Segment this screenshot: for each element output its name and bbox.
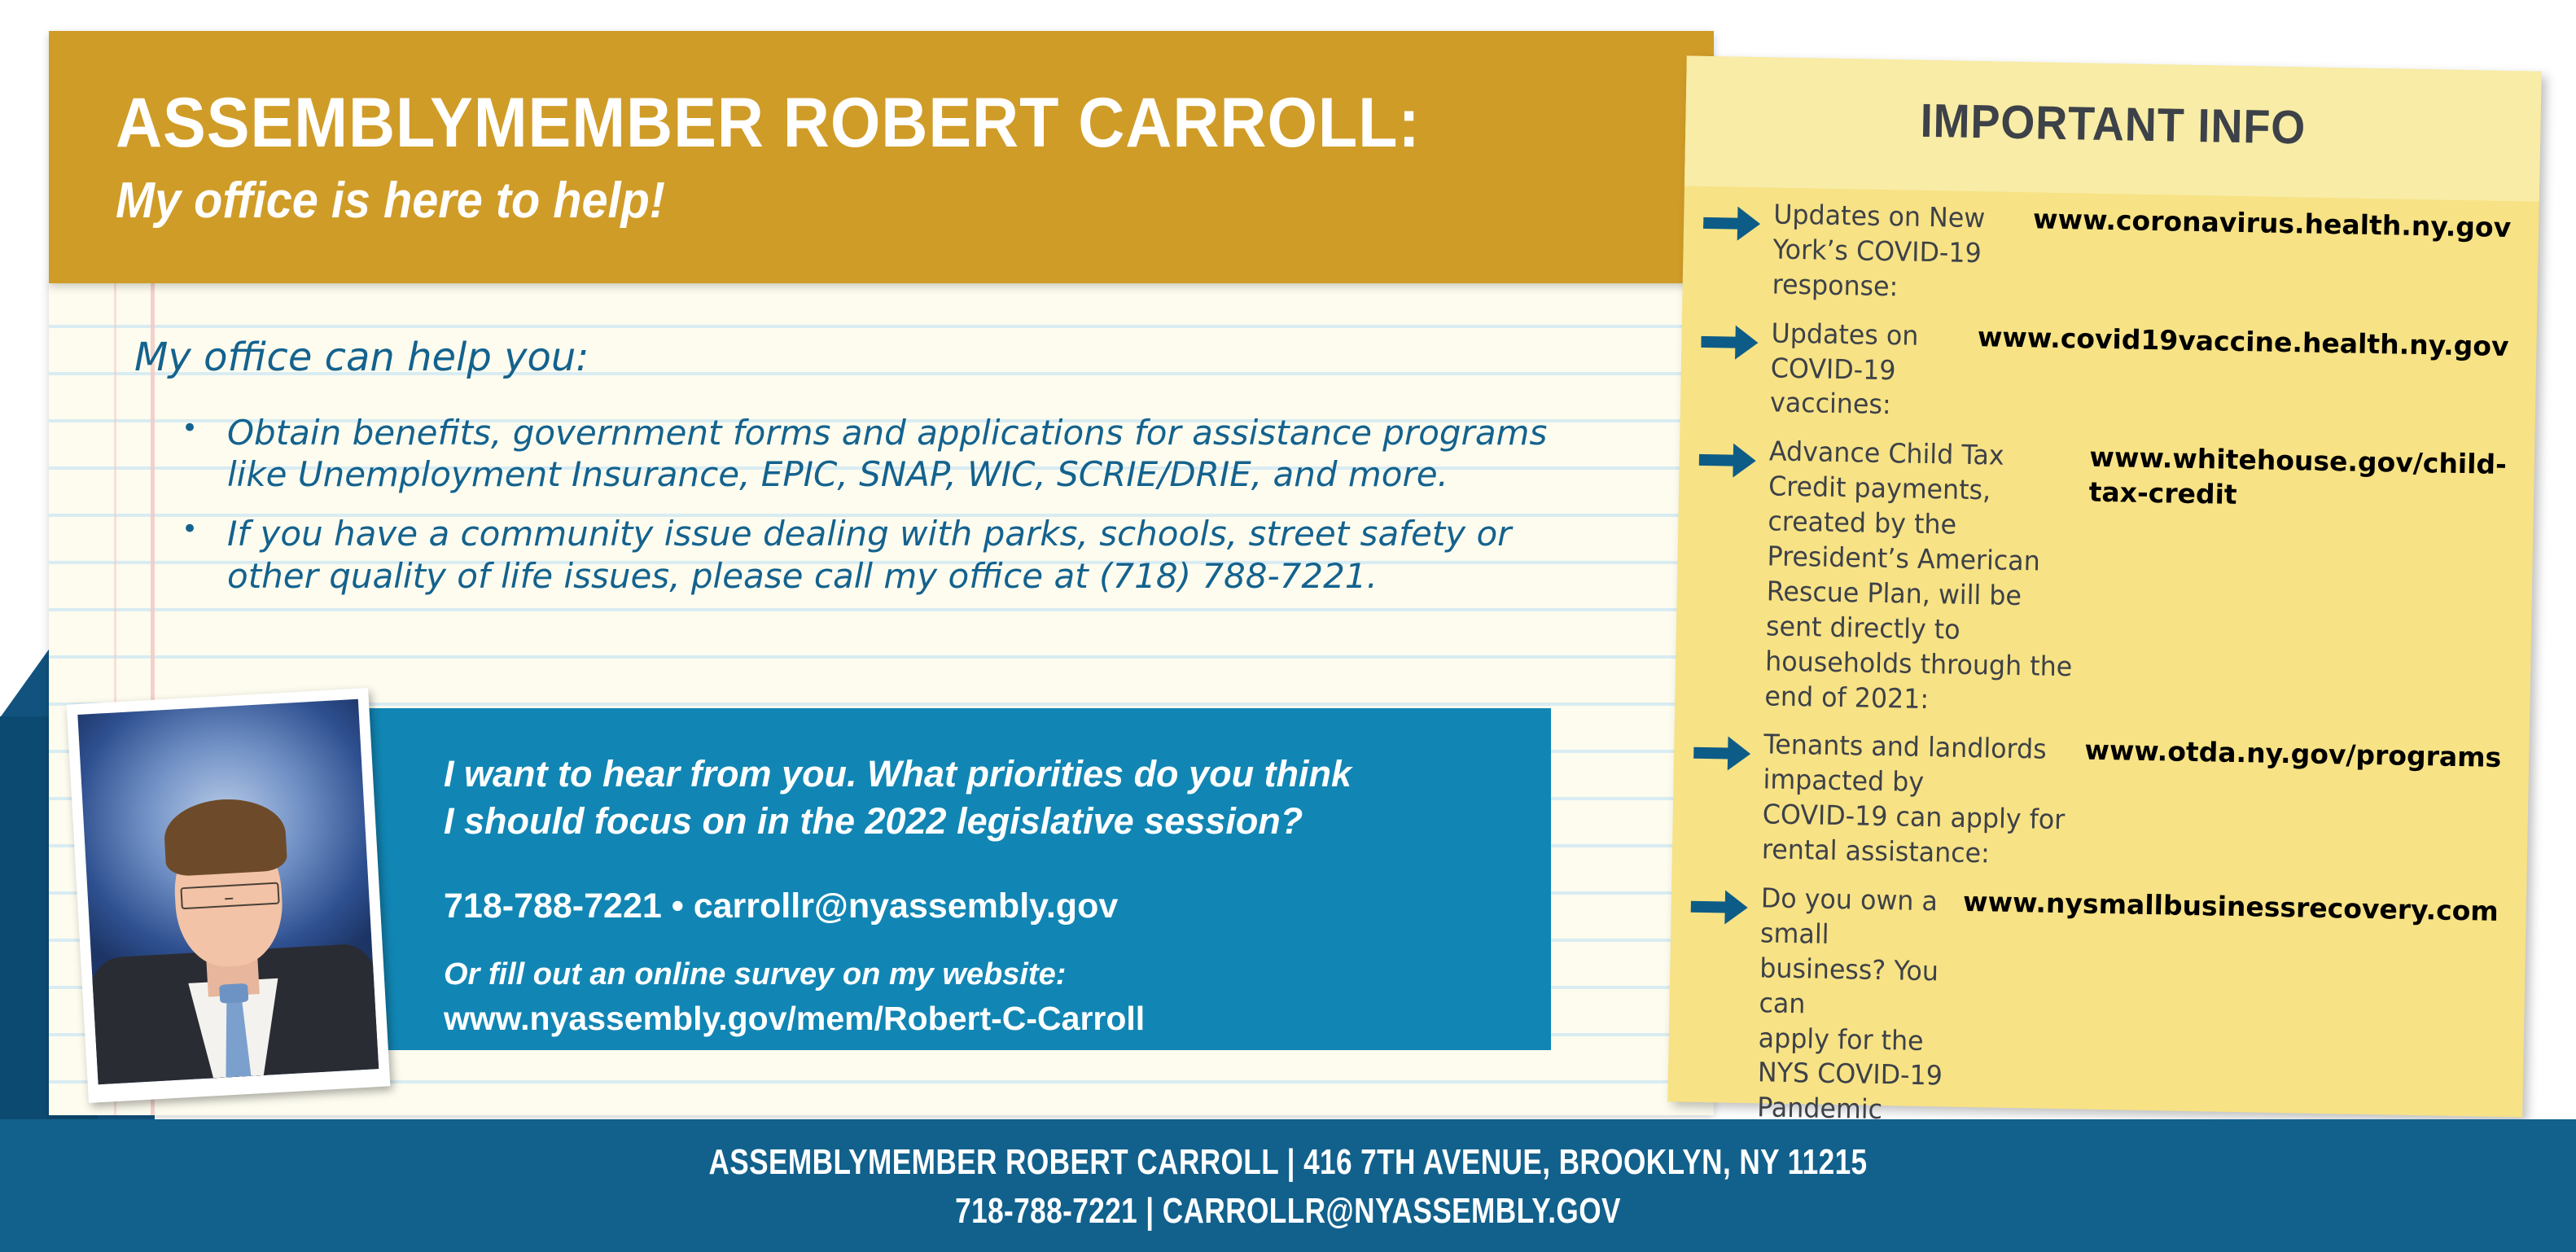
website-link[interactable]: www.nyassembly.gov/mem/Robert-C-Carroll xyxy=(444,1002,1145,1035)
footer-contact: 718-788-7221 | CARROLLR@NYASSEMBLY.GOV xyxy=(257,1191,2318,1232)
arrow-right-icon xyxy=(1693,726,1764,774)
important-info-list: Updates on New York’s COVID-19 response:… xyxy=(1664,195,2539,1252)
hair-shape xyxy=(163,796,287,877)
page-title: ASSEMBLYMEMBER ROBERT CARROLL: xyxy=(116,88,1421,158)
list-item-url[interactable]: www.covid19vaccine.health.ny.gov xyxy=(1978,320,2509,365)
list-item-text: Advance Child Tax Credit payments, creat… xyxy=(1764,435,2077,720)
footer-address: ASSEMBLYMEMBER ROBERT CARROLL | 416 7TH … xyxy=(257,1142,2318,1183)
list-item: Updates on New York’s COVID-19 response:… xyxy=(1682,195,2539,316)
contact-box-heading: I want to hear from you. What priorities… xyxy=(444,751,1352,844)
list-item-text: Tenants and landlords impacted by COVID-… xyxy=(1762,728,2072,873)
page-subtitle: My office is here to help! xyxy=(116,176,665,226)
list-item: Advance Child Tax Credit payments, creat… xyxy=(1675,433,2534,728)
flyer-canvas: ASSEMBLYMEMBER ROBERT CARROLL: My office… xyxy=(0,0,2576,1252)
gold-header-banner: ASSEMBLYMEMBER ROBERT CARROLL: My office… xyxy=(49,31,1714,283)
arrow-right-icon xyxy=(1703,196,1774,244)
important-info-panel: IMPORTANT INFO Updates on New York’s COV… xyxy=(1667,55,2541,1117)
arrow-right-icon xyxy=(1701,315,1772,363)
list-item-url[interactable]: www.nysmallbusinessrecovery.com xyxy=(1963,885,2499,930)
tie-knot-shape xyxy=(219,983,248,1004)
list-item-text: Updates on COVID-19 vaccines: xyxy=(1770,316,1969,424)
list-item-url[interactable]: www.otda.ny.gov/programs xyxy=(2084,733,2502,776)
list-item-url[interactable]: www.coronavirus.health.ny.gov xyxy=(2033,202,2512,246)
portrait-photo xyxy=(77,699,379,1085)
list-item-url[interactable]: www.whitehouse.gov/child-tax-credit xyxy=(2088,440,2507,518)
survey-prompt: Or fill out an online survey on my websi… xyxy=(444,959,1066,990)
list-item-text: Updates on New York’s COVID-19 response: xyxy=(1772,197,2022,306)
avatar xyxy=(67,688,391,1103)
arrow-right-icon xyxy=(1698,433,1769,481)
contact-phone-email[interactable]: 718-788-7221 • carrollr@nyassembly.gov xyxy=(444,889,1118,924)
list-item: Tenants and landlords impacted by COVID-… xyxy=(1672,726,2530,882)
footer-bar: ASSEMBLYMEMBER ROBERT CARROLL | 416 7TH … xyxy=(0,1119,2576,1252)
arrow-right-icon xyxy=(1690,880,1761,928)
list-item: Updates on COVID-19 vaccines: www.covid1… xyxy=(1680,314,2537,435)
